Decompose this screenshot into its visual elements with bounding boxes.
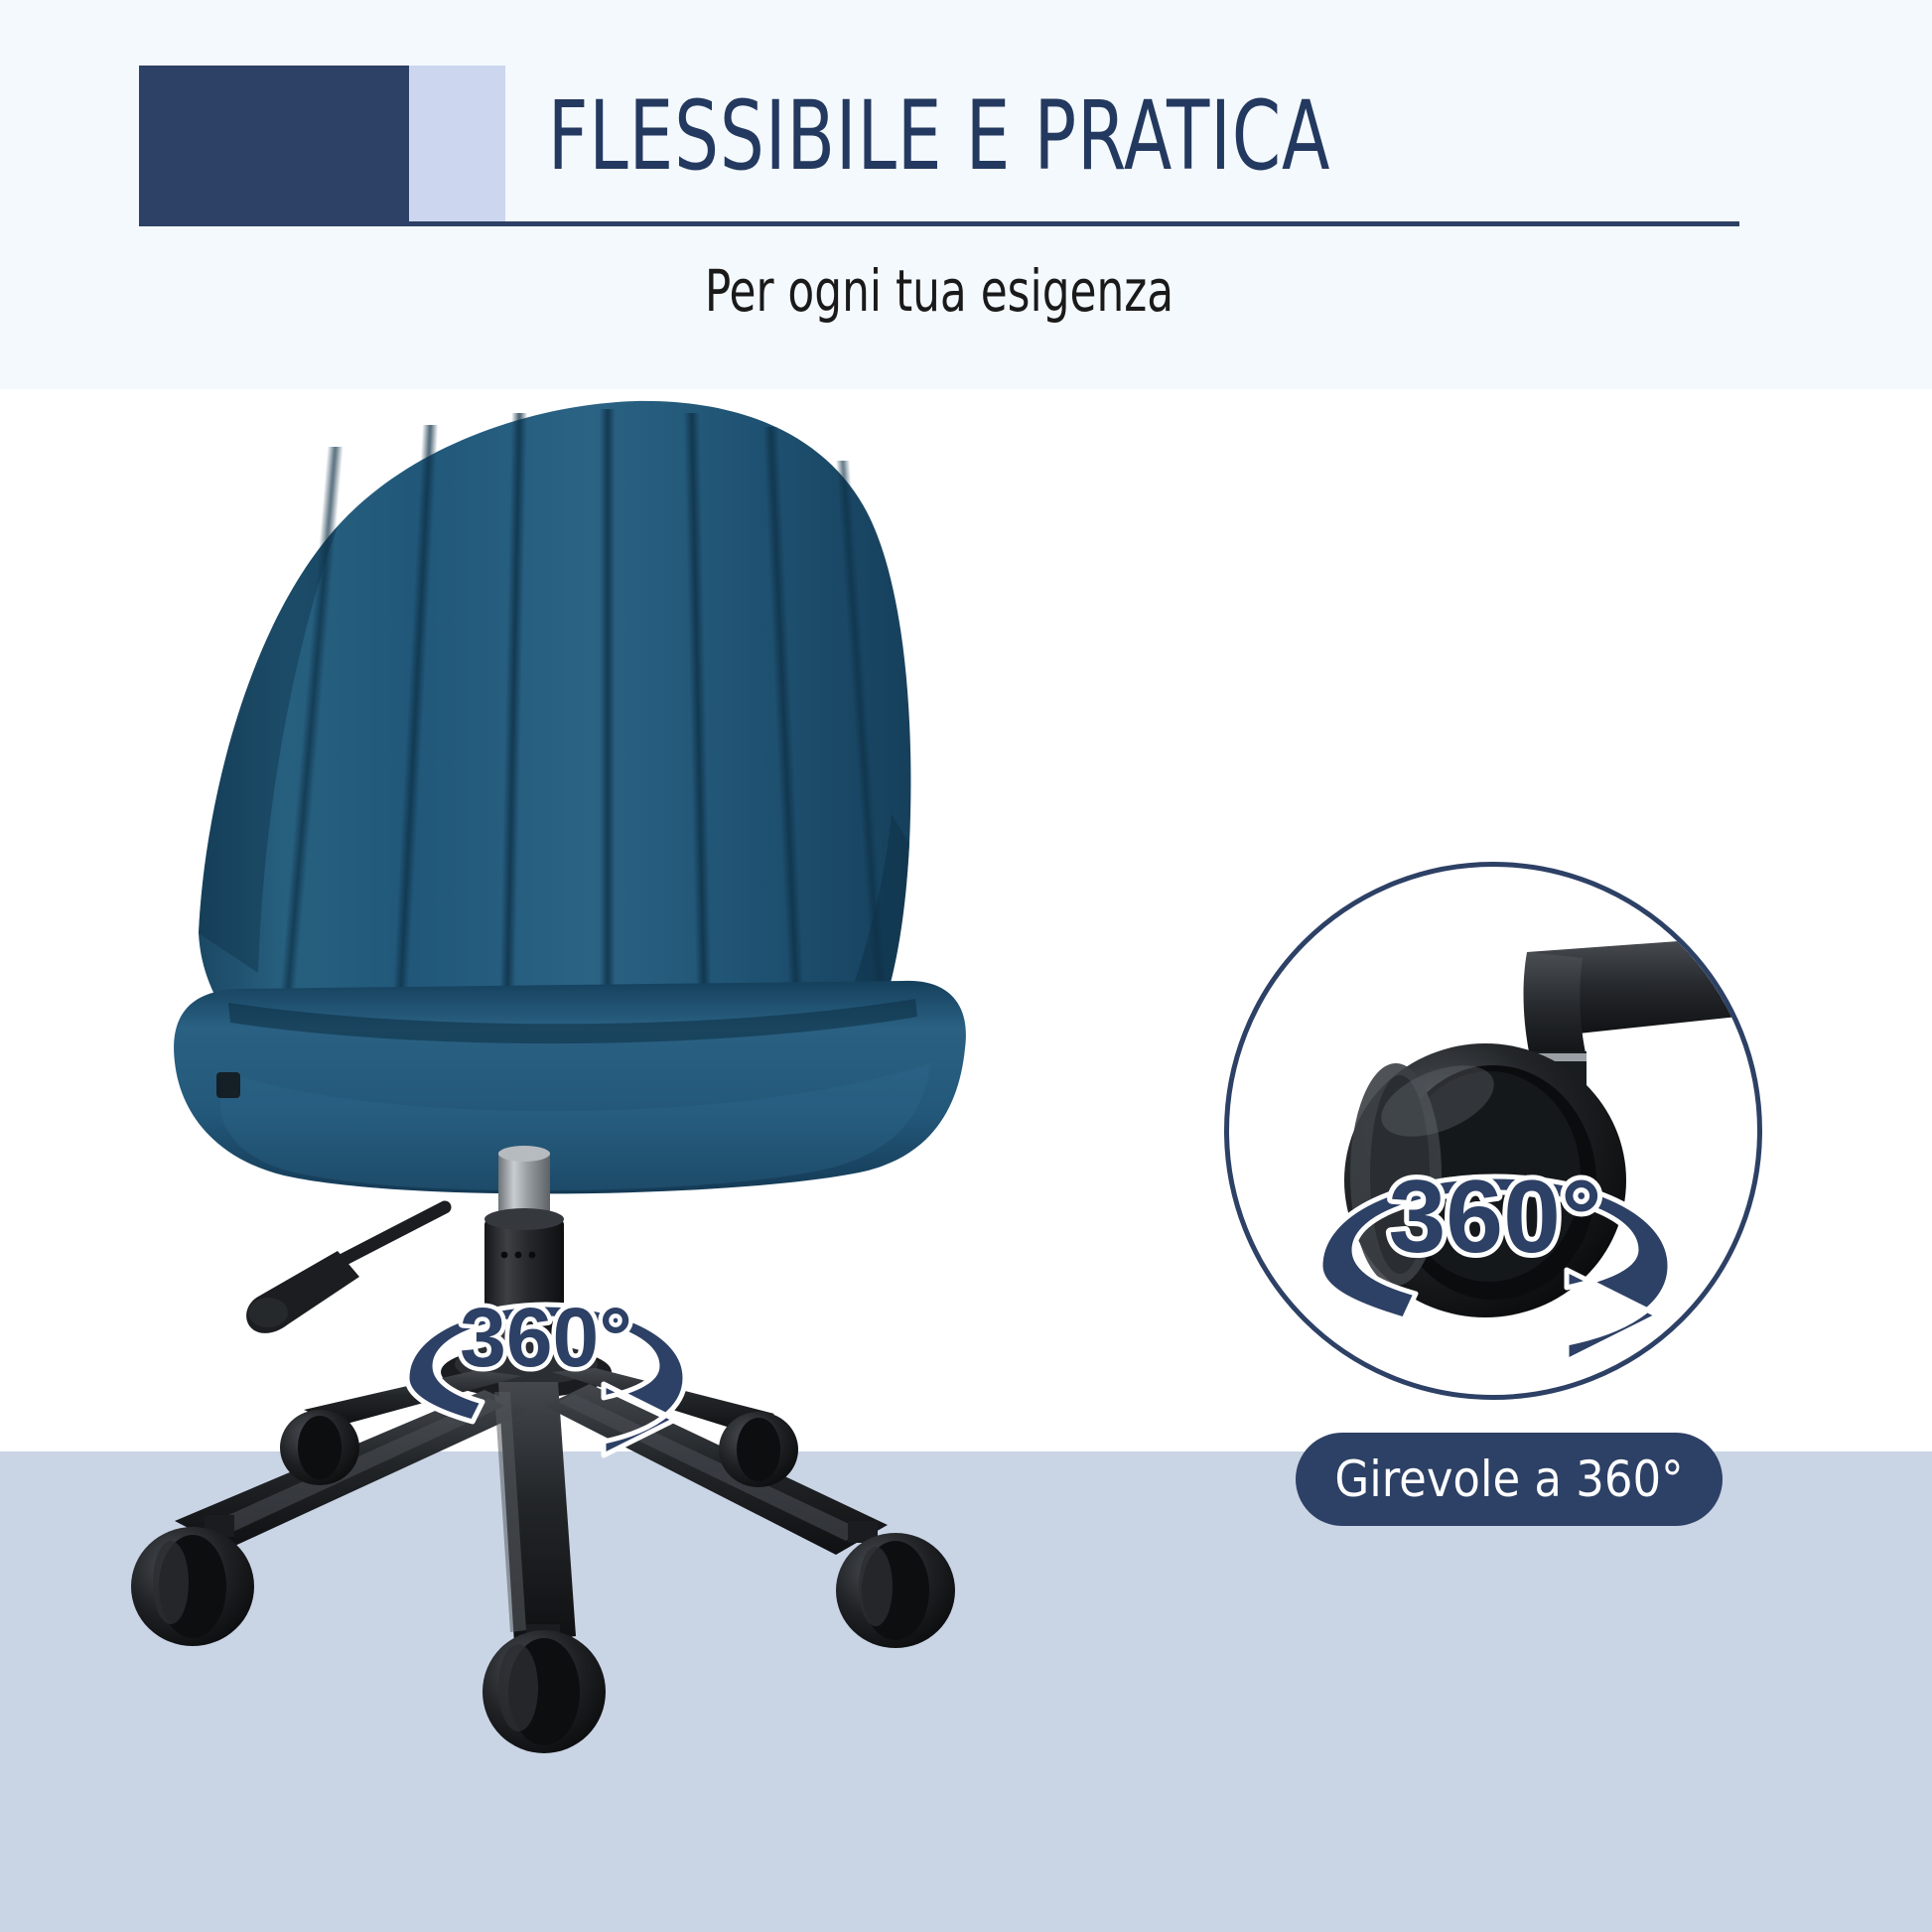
rotation-badge-main-label: 360° [460,1291,632,1384]
product-feature-banner: FLESSIBILE E PRATICA Per ogni tua esigen… [0,0,1932,1932]
page-title: FLESSIBILE E PRATICA [283,77,1595,195]
header-divider-rule [139,221,1739,226]
rotation-badge-inset-label: 360° [1388,1160,1601,1275]
rotation-badge-inset: 360° [1287,1135,1704,1363]
rotation-badge-main: 360° [377,1271,715,1459]
caster-detail-inset: 360° [1224,862,1762,1400]
feature-caption-label: Girevole a 360° [1334,1454,1683,1504]
product-image-chair [109,377,1152,1787]
page-subtitle: Per ogni tua esigenza [267,256,1611,326]
feature-caption-pill: Girevole a 360° [1296,1433,1723,1526]
